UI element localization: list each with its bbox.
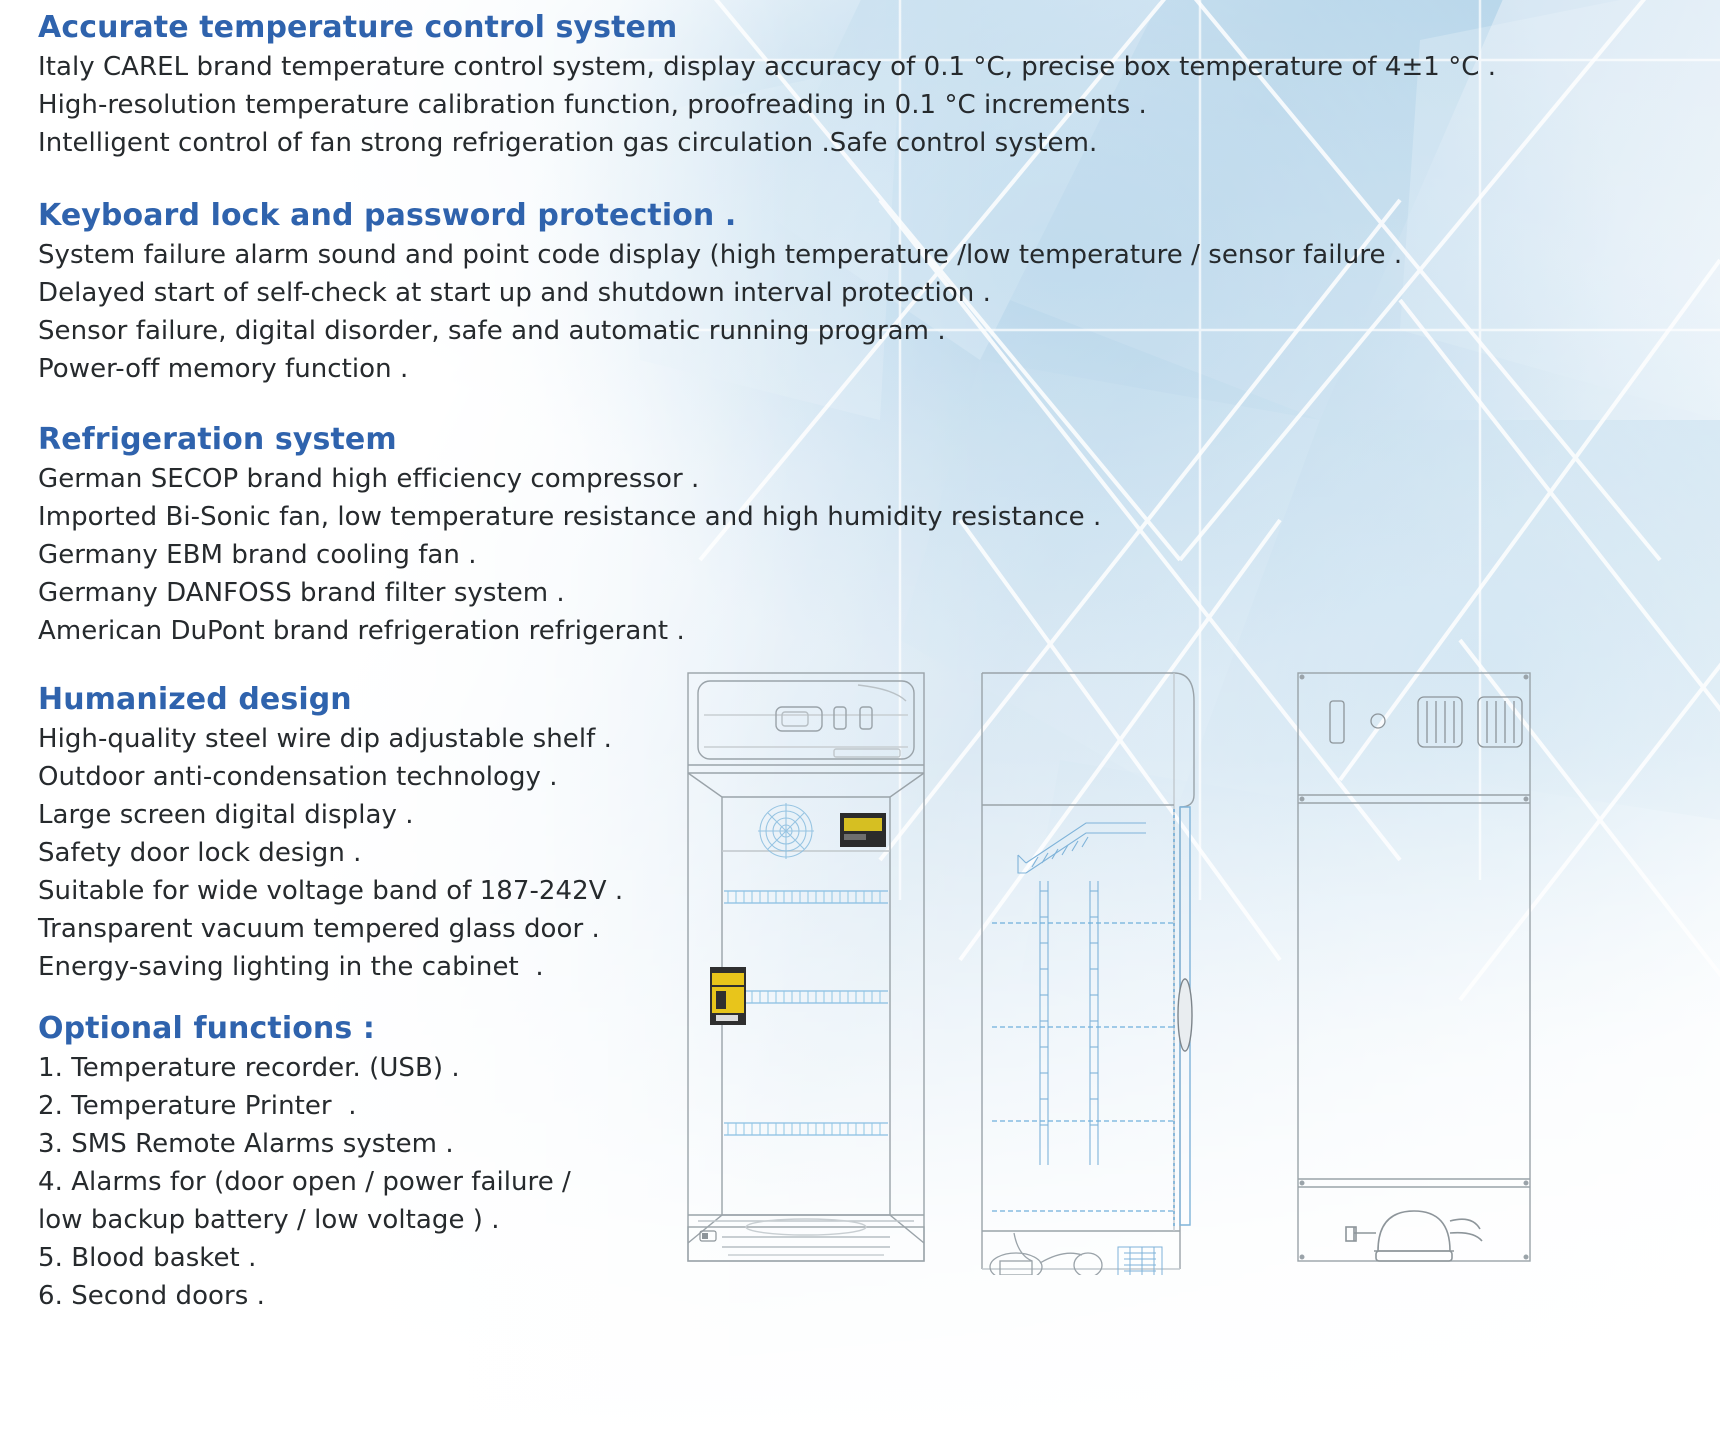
power-port-icon (1330, 701, 1344, 743)
figure-front-view (682, 655, 930, 1275)
section-line: High-quality steel wire dip adjustable s… (38, 720, 623, 758)
section-accurate-temperature-control: Accurate temperature control system Ital… (38, 8, 1496, 162)
condenser-coil (1118, 1247, 1162, 1275)
section-line: Italy CAREL brand temperature control sy… (38, 48, 1496, 86)
compressor-unit (1346, 1211, 1482, 1261)
vent-grille (1478, 697, 1522, 747)
section-line: Intelligent control of fan strong refrig… (38, 124, 1496, 162)
optional-item: 2. Temperature Printer . (38, 1087, 571, 1125)
section-line: Large screen digital display . (38, 796, 623, 834)
section-heading: Keyboard lock and password protection . (38, 196, 1402, 236)
section-humanized-design: Humanized design High-quality steel wire… (38, 680, 623, 986)
control-module (840, 813, 886, 847)
figure-side-view (978, 655, 1210, 1275)
wire-shelf (724, 991, 888, 1003)
section-line: Sensor failure, digital disorder, safe a… (38, 312, 1402, 350)
vent-grille (1418, 697, 1462, 747)
bottom-indicator-icon (700, 1231, 716, 1241)
section-line: Germany EBM brand cooling fan . (38, 536, 1101, 574)
optional-item: 6. Second doors . (38, 1277, 571, 1315)
section-line: Transparent vacuum tempered glass door . (38, 910, 623, 948)
section-line: Safety door lock design . (38, 834, 623, 872)
section-line: Energy-saving lighting in the cabinet . (38, 948, 623, 986)
wire-shelf (724, 891, 888, 903)
section-line: German SECOP brand high efficiency compr… (38, 460, 1101, 498)
warning-label-sticker (710, 967, 746, 1025)
optional-item: 5. Blood basket . (38, 1239, 571, 1277)
section-line: High-resolution temperature calibration … (38, 86, 1496, 124)
section-line: Suitable for wide voltage band of 187-24… (38, 872, 623, 910)
section-line: Power-off memory function . (38, 350, 1402, 388)
section-line: Outdoor anti-condensation technology . (38, 758, 623, 796)
section-line: American DuPont brand refrigeration refr… (38, 612, 1101, 650)
round-port-icon (1371, 714, 1385, 728)
product-illustration-group (660, 655, 1720, 1295)
figure-back-view (1290, 655, 1540, 1275)
section-line: System failure alarm sound and point cod… (38, 236, 1402, 274)
section-refrigeration-system: Refrigeration system German SECOP brand … (38, 420, 1101, 650)
optional-item: 4. Alarms for (door open / power failure… (38, 1163, 571, 1201)
section-heading: Optional functions : (38, 1009, 571, 1049)
section-keyboard-lock-password: Keyboard lock and password protection . … (38, 196, 1402, 388)
section-heading: Accurate temperature control system (38, 8, 1496, 48)
section-line: Germany DANFOSS brand filter system . (38, 574, 1101, 612)
evaporator-detail (1018, 823, 1146, 873)
wire-shelf (724, 1123, 888, 1135)
product-spec-page: Accurate temperature control system Ital… (0, 0, 1720, 1440)
section-heading: Humanized design (38, 680, 623, 720)
section-line: Imported Bi-Sonic fan, low temperature r… (38, 498, 1101, 536)
section-optional-functions: Optional functions : 1. Temperature reco… (38, 1009, 571, 1315)
optional-item-continued: low backup battery / low voltage ) . (38, 1201, 571, 1239)
optional-item: 1. Temperature recorder. (USB) . (38, 1049, 571, 1087)
section-line: Delayed start of self-check at start up … (38, 274, 1402, 312)
optional-item: 3. SMS Remote Alarms system . (38, 1125, 571, 1163)
section-heading: Refrigeration system (38, 420, 1101, 460)
shelf-line (992, 923, 1174, 1211)
